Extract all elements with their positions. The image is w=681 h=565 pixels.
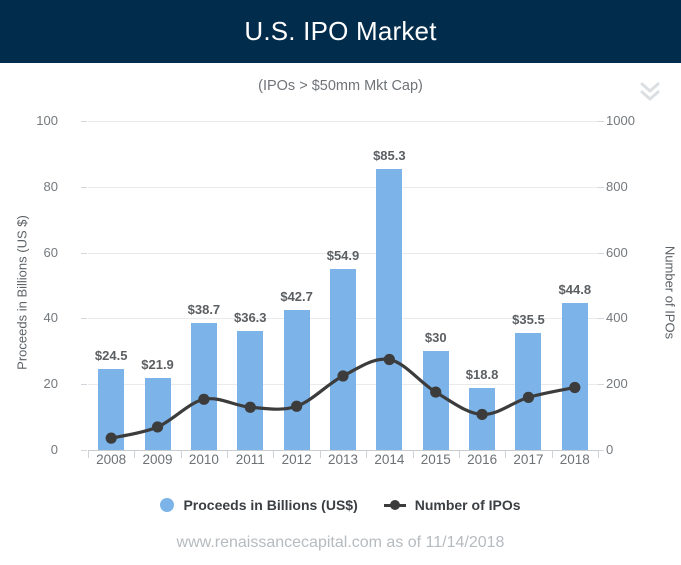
ipo-market-chart-widget: U.S. IPO Market (IPOs > $50mm Mkt Cap) P… — [0, 0, 681, 565]
x-axis-tick-label-2009: 2009 — [134, 452, 180, 467]
x-axis-tick-label-2010: 2010 — [181, 452, 227, 467]
line-marker-2014[interactable]: 2014: 275 — [384, 354, 395, 365]
line-marker-2016[interactable]: 2016: 108 — [476, 409, 487, 420]
legend-line-dot-icon — [384, 500, 406, 510]
line-marker-2008[interactable]: 2008: 36 — [106, 433, 117, 444]
plot-area: Proceeds in Billions (US $) Number of IP… — [0, 0, 681, 565]
legend-label-proceeds: Proceeds in Billions (US$) — [183, 497, 357, 513]
legend-item-number-of-ipos[interactable]: Number of IPOs — [384, 497, 521, 513]
x-axis-tick-label-2008: 2008 — [88, 452, 134, 467]
legend-circle-icon — [160, 498, 174, 512]
x-axis-tick-label-2011: 2011 — [227, 452, 273, 467]
x-axis-tick-label-2012: 2012 — [273, 452, 319, 467]
line-marker-2010[interactable]: 2010: 154 — [198, 394, 209, 405]
legend-item-proceeds[interactable]: Proceeds in Billions (US$) — [160, 497, 357, 513]
source-attribution: www.renaissancecapital.com as of 11/14/2… — [0, 534, 681, 552]
chart-legend: Proceeds in Billions (US$) Number of IPO… — [0, 497, 681, 513]
x-axis-tick-label-2018: 2018 — [552, 452, 598, 467]
line-marker-2017[interactable]: 2017: 160 — [523, 392, 534, 403]
legend-label-number-of-ipos: Number of IPOs — [415, 497, 521, 513]
x-axis-separator — [598, 450, 599, 458]
number-of-ipos-line-svg: 2008: 362009: 702010: 1542011: 1302012: … — [0, 0, 681, 565]
x-axis-tick-label-2016: 2016 — [459, 452, 505, 467]
x-axis-tick-label-2014: 2014 — [366, 452, 412, 467]
x-axis-tick-label-2017: 2017 — [505, 452, 551, 467]
line-marker-2018[interactable]: 2018: 190 — [569, 382, 580, 393]
line-marker-2012[interactable]: 2012: 133 — [291, 401, 302, 412]
line-marker-2015[interactable]: 2015: 176 — [430, 387, 441, 398]
x-axis-tick-label-2015: 2015 — [413, 452, 459, 467]
x-axis-tick-label-2013: 2013 — [320, 452, 366, 467]
line-marker-2011[interactable]: 2011: 130 — [245, 402, 256, 413]
line-marker-2013[interactable]: 2013: 225 — [337, 370, 348, 381]
line-marker-2009[interactable]: 2009: 70 — [152, 421, 163, 432]
